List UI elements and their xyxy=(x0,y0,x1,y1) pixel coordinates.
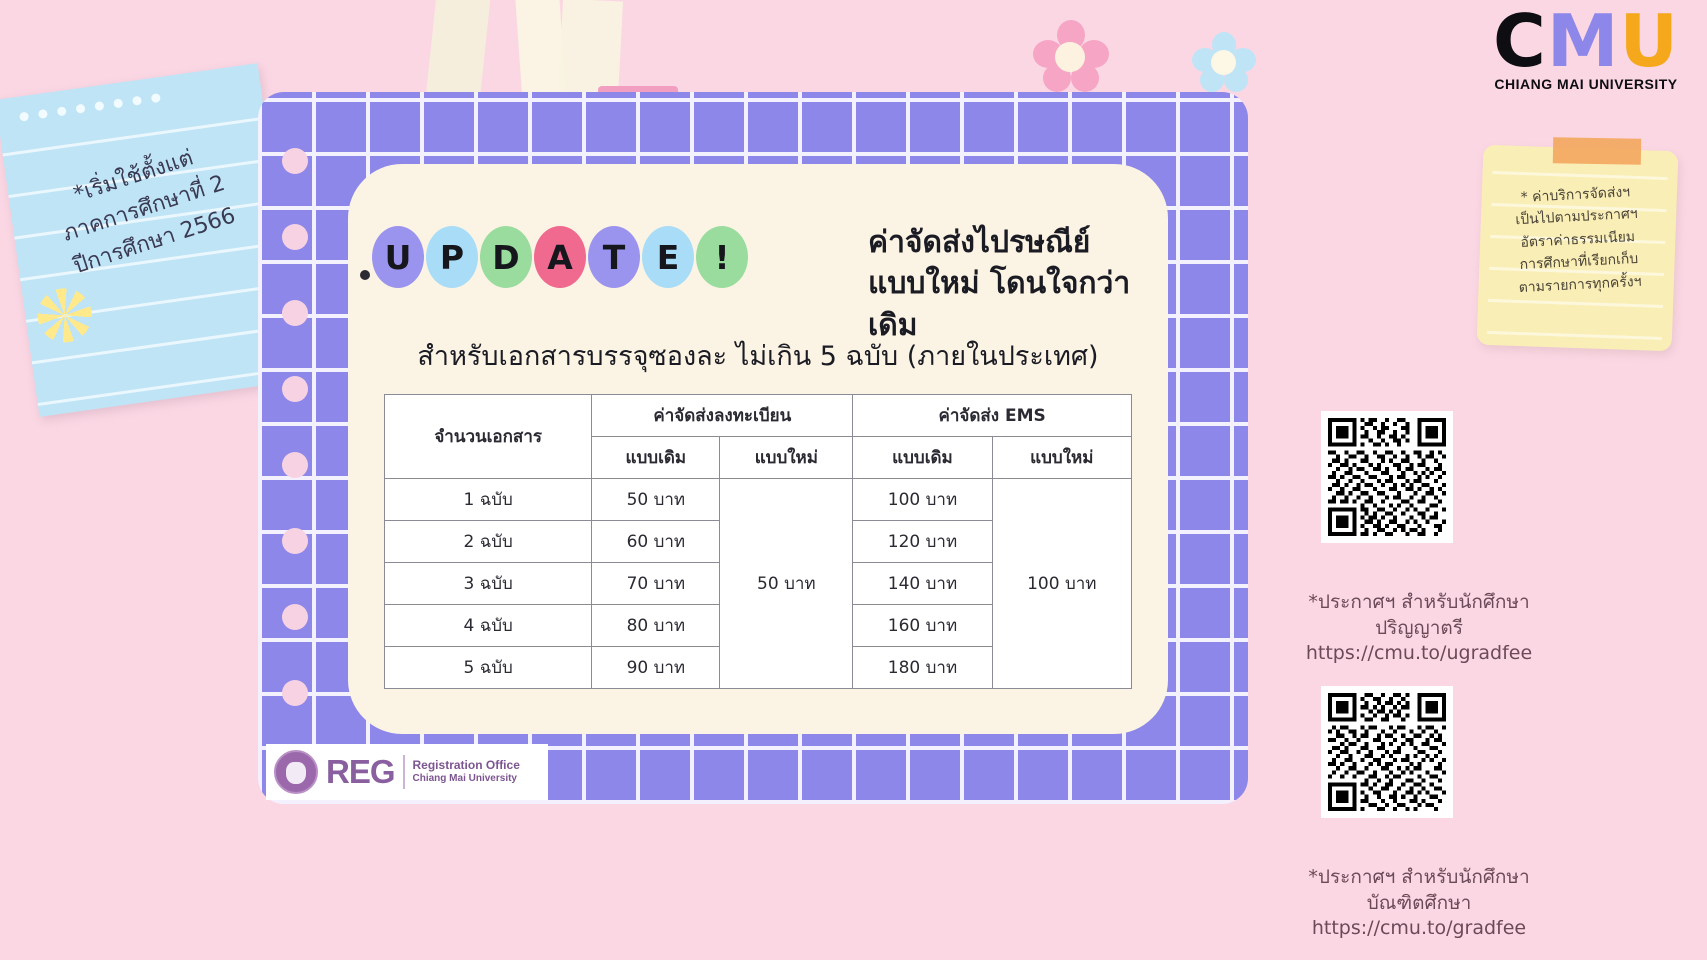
update-letter-4: T xyxy=(588,226,640,288)
cell-registered-old: 80 บาท xyxy=(592,605,720,647)
blue-flower-icon xyxy=(1192,32,1254,94)
update-letter-5: E xyxy=(642,226,694,288)
qr-graduate-image xyxy=(1328,693,1446,811)
cmu-letter-m: M xyxy=(1547,0,1620,83)
reg-office-line: Registration Office xyxy=(413,758,520,773)
cell-registered-new: 50 บาท xyxy=(720,479,853,689)
qr-code-undergraduate[interactable] xyxy=(1321,411,1453,543)
cell-registered-old: 50 บาท xyxy=(592,479,720,521)
note-holes xyxy=(19,93,161,122)
headline-text: ค่าจัดส่งไปรษณีย์ แบบใหม่ โดนใจกว่าเดิม xyxy=(868,222,1158,346)
cell-ems-new: 100 บาท xyxy=(992,479,1131,689)
cell-documents: 3 ฉบับ xyxy=(385,563,592,605)
reg-university-line: Chiang Mai University xyxy=(413,773,520,786)
content-card: U P D A T E ! ค่าจัดส่งไปรษณีย์ แบบใหม่ … xyxy=(348,164,1168,734)
cell-ems-old: 120 บาท xyxy=(853,521,992,563)
th-registered-group: ค่าจัดส่งลงทะเบียน xyxy=(592,395,853,437)
cmu-logo: CMU CHIANG MAI UNIVERSITY xyxy=(1493,8,1679,92)
cell-ems-old: 160 บาท xyxy=(853,605,992,647)
cell-documents: 5 ฉบับ xyxy=(385,647,592,689)
shipping-fee-table: จำนวนเอกสาร ค่าจัดส่งลงทะเบียน ค่าจัดส่ง… xyxy=(384,394,1132,689)
table-row: 1 ฉบับ 50 บาท 50 บาท 100 บาท 100 บาท xyxy=(385,479,1132,521)
th-ems-group: ค่าจัดส่ง EMS xyxy=(853,395,1132,437)
qr-code-graduate[interactable] xyxy=(1321,686,1453,818)
reg-wordmark: REG xyxy=(326,753,395,791)
reg-logo: REG Registration Office Chiang Mai Unive… xyxy=(266,744,548,800)
cmu-letter-u: U xyxy=(1620,0,1679,83)
cell-ems-old: 180 บาท xyxy=(853,647,992,689)
th-registered-new: แบบใหม่ xyxy=(720,437,853,479)
th-ems-new: แบบใหม่ xyxy=(992,437,1131,479)
divider xyxy=(403,755,405,789)
cell-ems-old: 100 บาท xyxy=(853,479,992,521)
table-header-row-1: จำนวนเอกสาร ค่าจัดส่งลงทะเบียน ค่าจัดส่ง… xyxy=(385,395,1132,437)
update-dot-decoration xyxy=(360,270,370,280)
qr-caption-undergraduate: *ประกาศฯ สำหรับนักศึกษา ปริญญาตรี https:… xyxy=(1254,590,1584,667)
cell-registered-old: 90 บาท xyxy=(592,647,720,689)
cell-registered-old: 60 บาท xyxy=(592,521,720,563)
poster-canvas: *เริ่มใช้ตั้งแต่ ภาคการศึกษาที่ 2 ปีการศ… xyxy=(0,0,1707,960)
cmu-wordmark: CMU xyxy=(1493,8,1679,74)
blue-sticky-note: *เริ่มใช้ตั้งแต่ ภาคการศึกษาที่ 2 ปีการศ… xyxy=(0,63,302,417)
cell-documents: 4 ฉบับ xyxy=(385,605,592,647)
cell-registered-old: 70 บาท xyxy=(592,563,720,605)
tape-strip-orange xyxy=(1553,137,1641,165)
update-letter-6: ! xyxy=(696,226,748,288)
reg-subtitle: Registration Office Chiang Mai Universit… xyxy=(413,758,520,786)
th-documents: จำนวนเอกสาร xyxy=(385,395,592,479)
qr-caption-graduate: *ประกาศฯ สำหรับนักศึกษา บัณฑิตศึกษา http… xyxy=(1254,865,1584,942)
update-letter-3: A xyxy=(534,226,586,288)
yellow-note-text: * ค่าบริการจัดส่งฯ เป็นไปตามประกาศฯ อัตร… xyxy=(1477,179,1678,301)
cmu-seal-icon xyxy=(274,750,318,794)
th-ems-old: แบบเดิม xyxy=(853,437,992,479)
table-body: 1 ฉบับ 50 บาท 50 บาท 100 บาท 100 บาท 2 ฉ… xyxy=(385,479,1132,689)
poster-board: U P D A T E ! ค่าจัดส่งไปรษณีย์ แบบใหม่ … xyxy=(258,92,1248,804)
cmu-letter-c: C xyxy=(1493,0,1547,83)
th-registered-old: แบบเดิม xyxy=(592,437,720,479)
update-letter-0: U xyxy=(372,226,424,288)
cell-documents: 1 ฉบับ xyxy=(385,479,592,521)
yellow-sticky-note: * ค่าบริการจัดส่งฯ เป็นไปตามประกาศฯ อัตร… xyxy=(1477,145,1679,352)
qr-undergraduate-image xyxy=(1328,418,1446,536)
update-letter-2: D xyxy=(480,226,532,288)
cell-documents: 2 ฉบับ xyxy=(385,521,592,563)
subtitle-text: สำหรับเอกสารบรรจุซองละ ไม่เกิน 5 ฉบับ (ภ… xyxy=(348,334,1168,377)
pink-flower-icon xyxy=(1033,20,1107,94)
cell-ems-old: 140 บาท xyxy=(853,563,992,605)
update-letter-1: P xyxy=(426,226,478,288)
cmu-subtitle: CHIANG MAI UNIVERSITY xyxy=(1493,76,1679,92)
update-word: U P D A T E ! xyxy=(372,226,748,288)
